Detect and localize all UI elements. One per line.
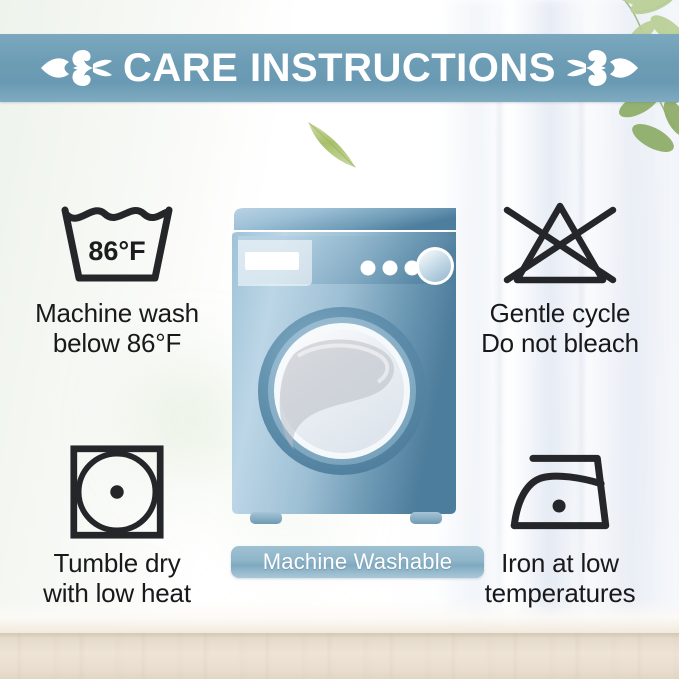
program-knob: [416, 247, 454, 285]
care-symbol-tumble-dry: Tumble dry with low heat: [12, 442, 222, 608]
background-table-grain: [0, 633, 679, 679]
washing-machine-door: [258, 307, 426, 475]
washing-machine-illustration: [228, 206, 462, 536]
care-symbol-caption: Machine wash below 86°F: [12, 298, 222, 358]
care-symbol-caption: Gentle cycle Do not bleach: [455, 298, 665, 358]
header-banner: CARE INSTRUCTIONS: [0, 34, 679, 102]
caption-line-1: Gentle cycle: [455, 298, 665, 328]
detergent-drawer: [238, 240, 312, 286]
wash-tub-icon: 86°F: [12, 192, 222, 292]
care-symbol-caption: Tumble dry with low heat: [12, 548, 222, 608]
care-symbol-caption: Iron at low temperatures: [455, 548, 665, 608]
care-symbol-iron-low: Iron at low temperatures: [455, 442, 665, 608]
tumble-dry-low-icon: [12, 442, 222, 542]
care-symbol-machine-wash: 86°F Machine wash below 86°F: [12, 192, 222, 358]
control-dots: [361, 261, 420, 276]
caption-line-1: Tumble dry: [12, 548, 222, 578]
triangle-crossed-out-icon: [455, 192, 665, 292]
caption-line-1: Machine wash: [12, 298, 222, 328]
care-instructions-infographic: CARE INSTRUCTIONS: [0, 0, 679, 679]
wash-temperature-value: 86°F: [88, 236, 145, 266]
page-title: CARE INSTRUCTIONS: [113, 48, 566, 88]
fleur-de-lis-icon: [566, 44, 640, 92]
caption-line-2: temperatures: [455, 578, 665, 608]
caption-line-2: below 86°F: [12, 328, 222, 358]
care-symbol-gentle-cycle-no-bleach: Gentle cycle Do not bleach: [455, 192, 665, 358]
fleur-de-lis-icon: [39, 44, 113, 92]
iron-low-heat-icon: [455, 442, 665, 542]
background-table: [0, 633, 679, 679]
caption-line-2: with low heat: [12, 578, 222, 608]
caption-line-2: Do not bleach: [455, 328, 665, 358]
machine-washable-badge: Machine Washable: [231, 546, 484, 578]
caption-line-1: Iron at low: [455, 548, 665, 578]
badge-label: Machine Washable: [263, 551, 452, 573]
